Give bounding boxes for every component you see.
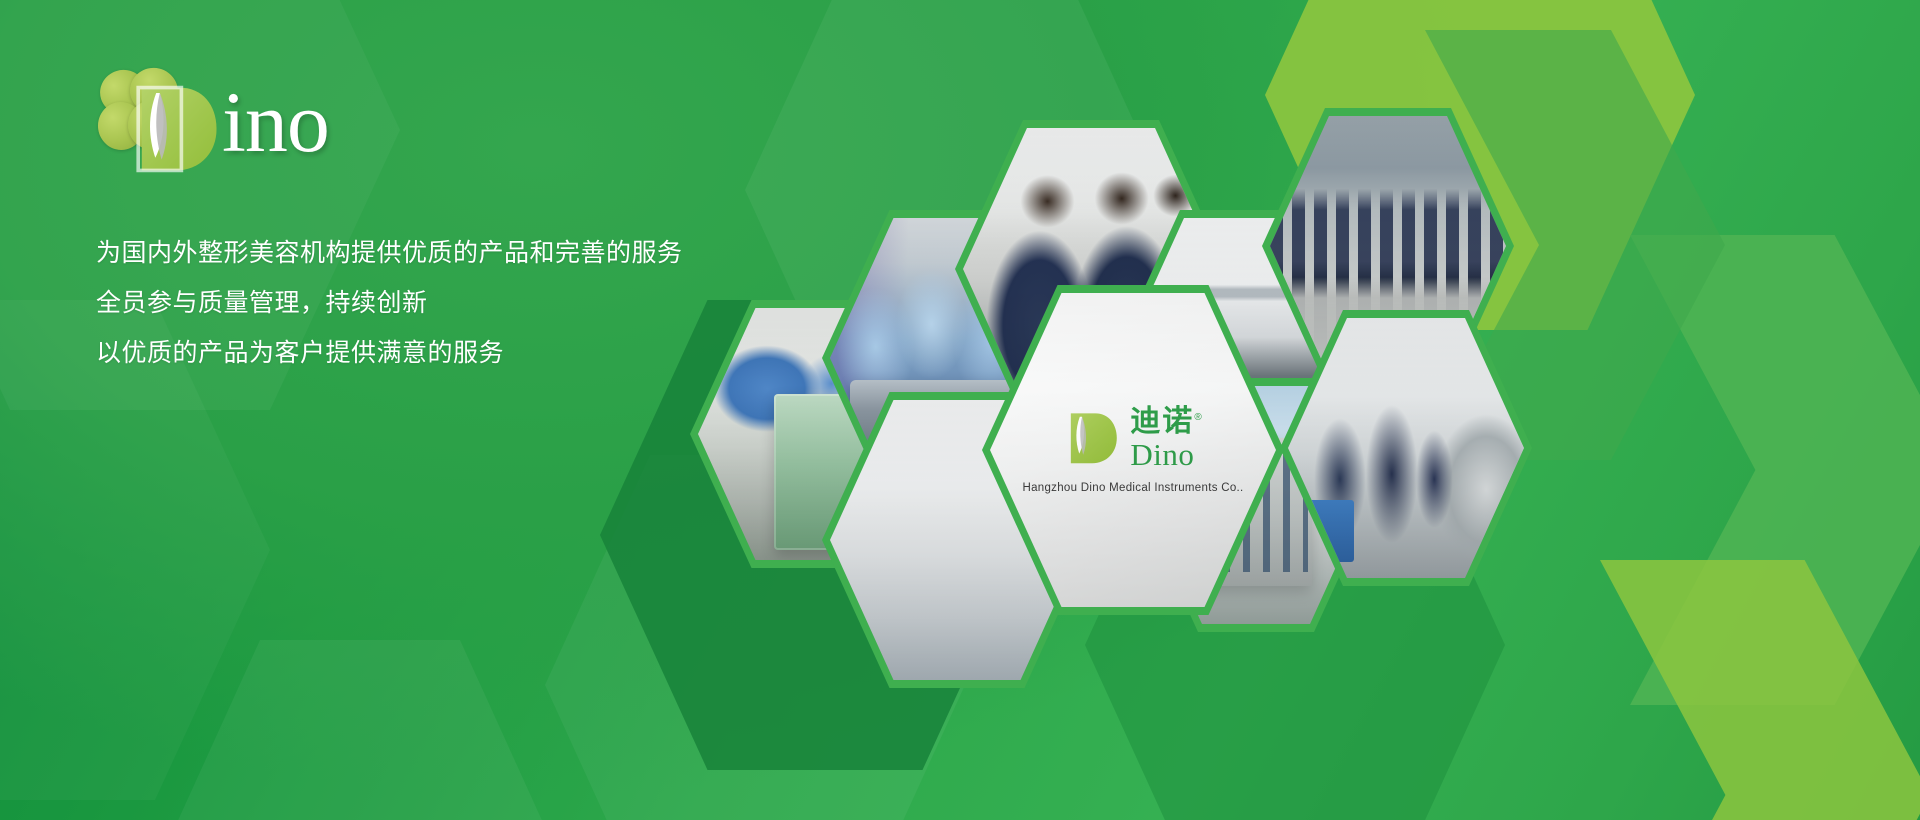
brand-wordmark: ino (222, 76, 329, 168)
tagline-line-1: 为国内外整形美容机构提供优质的产品和完善的服务 (96, 228, 856, 278)
tagline-line-2: 全员参与质量管理，持续创新 (96, 278, 856, 328)
registered-mark: ® (1194, 412, 1203, 423)
tagline-line-3: 以优质的产品为客户提供满意的服务 (96, 328, 856, 378)
dino-leaf-d-icon (1062, 410, 1120, 466)
photo-cnc-operators (1288, 318, 1524, 578)
center-logo-lockup: 迪诺® Dino (1062, 407, 1203, 470)
dino-d-icon (130, 84, 222, 174)
brand-logo: ino (96, 62, 856, 174)
brand-block: ino 为国内外整形美容机构提供优质的产品和完善的服务 全员参与质量管理，持续创… (96, 62, 856, 378)
center-logo-company-name: Hangzhou Dino Medical Instruments Co.. (1022, 482, 1243, 494)
center-logo-en-name: Dino (1130, 439, 1194, 470)
center-logo-cn-name: 迪诺® (1130, 407, 1203, 437)
hero-banner: 迪诺® Dino Hangzhou Dino Medical Instrumen… (0, 0, 1920, 820)
tagline-list: 为国内外整形美容机构提供优质的产品和完善的服务 全员参与质量管理，持续创新 以优… (96, 228, 856, 378)
